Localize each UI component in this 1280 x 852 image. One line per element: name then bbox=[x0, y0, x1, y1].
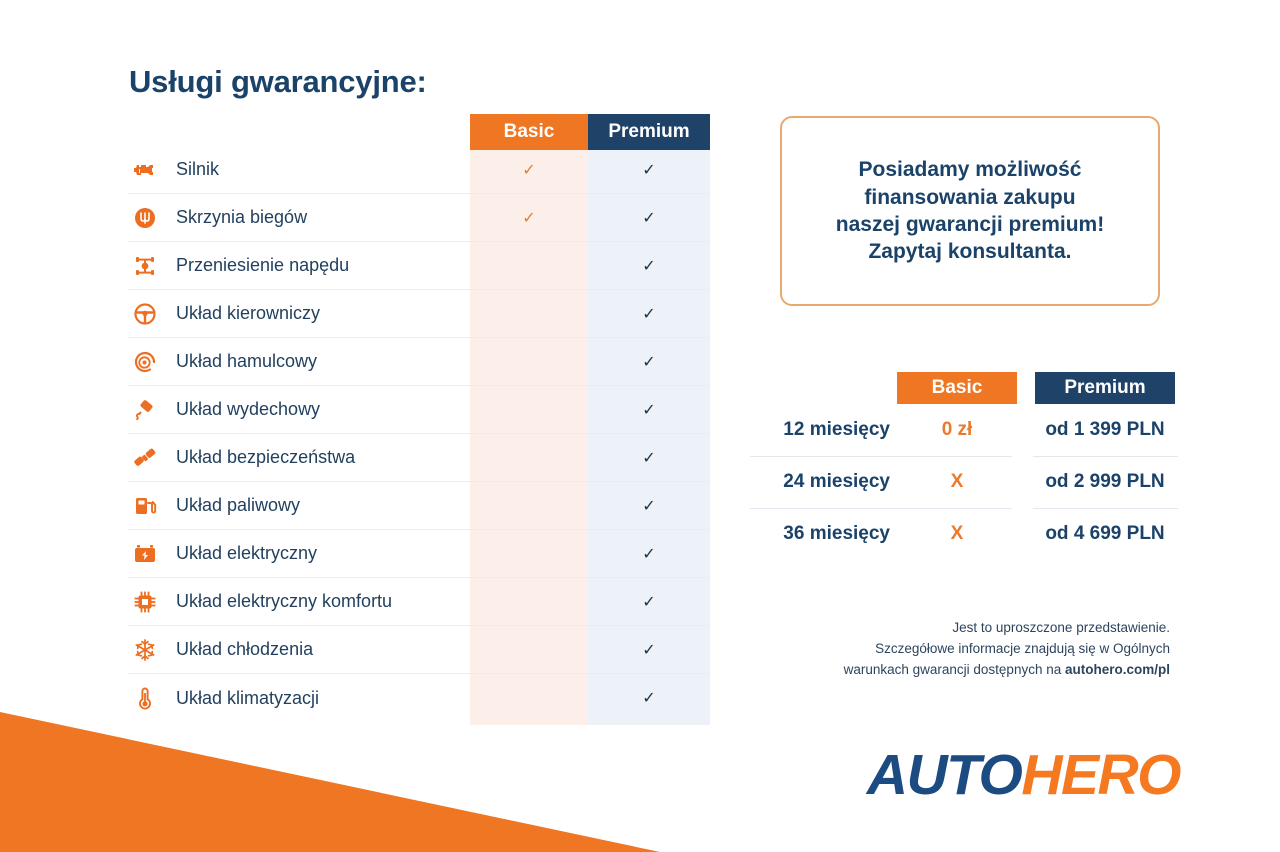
fuel-pump-icon bbox=[128, 494, 162, 518]
exhaust-icon bbox=[128, 398, 162, 422]
table-row: Układ wydechowy ✓ bbox=[128, 386, 710, 434]
price-table-header: Basic Premium bbox=[750, 372, 1180, 404]
financing-promo-text: Posiadamy możliwość finansowania zakupu … bbox=[836, 156, 1104, 265]
price-table: Basic Premium 12 miesięcy 0 zł od 1 399 … bbox=[750, 372, 1180, 560]
cell-premium: ✓ bbox=[588, 146, 710, 194]
table-row: Układ elektryczny ✓ bbox=[128, 530, 710, 578]
thermometer-icon bbox=[128, 686, 162, 710]
price-term: 12 miesięcy bbox=[750, 404, 890, 456]
feature-label: Układ elektryczny bbox=[162, 543, 317, 564]
cell-premium: ✓ bbox=[588, 386, 710, 434]
cell-premium: ✓ bbox=[588, 482, 710, 530]
cell-basic bbox=[470, 242, 588, 290]
feature-rows: Silnik ✓ ✓ Skrzynia biegów ✓ ✓ Przeniesi… bbox=[128, 146, 710, 722]
page-title: Usługi gwarancyjne: bbox=[129, 64, 427, 100]
cell-basic: ✓ bbox=[470, 194, 588, 242]
logo-hero-text: HERO bbox=[1021, 743, 1180, 807]
table-row: Silnik ✓ ✓ bbox=[128, 146, 710, 194]
feature-label: Przeniesienie napędu bbox=[162, 255, 349, 276]
autohero-link[interactable]: autohero.com/pl bbox=[1065, 662, 1170, 677]
financing-panel: Posiadamy możliwość finansowania zakupu … bbox=[740, 0, 1280, 852]
cell-premium: ✓ bbox=[588, 530, 710, 578]
table-row: Układ hamulcowy ✓ bbox=[128, 338, 710, 386]
cell-premium: ✓ bbox=[588, 194, 710, 242]
price-premium: od 1 399 PLN bbox=[1035, 404, 1175, 456]
feature-label: Układ elektryczny komfortu bbox=[162, 591, 392, 612]
feature-label: Układ bezpieczeństwa bbox=[162, 447, 355, 468]
cell-basic bbox=[470, 386, 588, 434]
engine-icon bbox=[128, 158, 162, 182]
price-premium: od 2 999 PLN bbox=[1035, 456, 1175, 508]
feature-label: Układ chłodzenia bbox=[162, 639, 313, 660]
cell-basic bbox=[470, 482, 588, 530]
disclaimer-text: Jest to uproszczone przedstawienie. Szcz… bbox=[760, 618, 1170, 681]
cell-basic bbox=[470, 338, 588, 386]
price-basic: X bbox=[897, 508, 1017, 560]
price-basic: 0 zł bbox=[897, 404, 1017, 456]
table-row: Układ bezpieczeństwa ✓ bbox=[128, 434, 710, 482]
cell-premium: ✓ bbox=[588, 434, 710, 482]
price-term: 24 miesięcy bbox=[750, 456, 890, 508]
table-row: Układ elektryczny komfortu ✓ bbox=[128, 578, 710, 626]
feature-label: Skrzynia biegów bbox=[162, 207, 307, 228]
feature-label: Układ paliwowy bbox=[162, 495, 300, 516]
gearbox-icon bbox=[128, 206, 162, 230]
price-premium: od 4 699 PLN bbox=[1035, 508, 1175, 560]
warranty-services-panel: Usługi gwarancyjne: Basic Premium Silnik… bbox=[0, 0, 740, 852]
column-header-basic: Basic bbox=[470, 114, 588, 150]
feature-label: Układ klimatyzacji bbox=[162, 688, 319, 709]
price-row: 36 miesięcy X od 4 699 PLN bbox=[750, 508, 1180, 560]
cell-premium: ✓ bbox=[588, 338, 710, 386]
table-row: Układ klimatyzacji ✓ bbox=[128, 674, 710, 722]
disclaimer-line-3: warunkach gwarancji dostępnych na autohe… bbox=[760, 660, 1170, 681]
cell-premium: ✓ bbox=[588, 242, 710, 290]
cell-premium: ✓ bbox=[588, 674, 710, 722]
snowflake-icon bbox=[128, 638, 162, 662]
table-row: Układ kierowniczy ✓ bbox=[128, 290, 710, 338]
feature-label: Silnik bbox=[162, 159, 219, 180]
column-header-premium: Premium bbox=[588, 114, 710, 150]
cell-basic: ✓ bbox=[470, 146, 588, 194]
disclaimer-line-1: Jest to uproszczone przedstawienie. bbox=[760, 618, 1170, 639]
cell-basic bbox=[470, 530, 588, 578]
financing-promo-box: Posiadamy możliwość finansowania zakupu … bbox=[780, 116, 1160, 306]
autohero-logo: AUTOHERO bbox=[760, 742, 1180, 808]
battery-icon bbox=[128, 542, 162, 566]
steering-wheel-icon bbox=[128, 302, 162, 326]
disclaimer-line-3-text: warunkach gwarancji dostępnych na bbox=[844, 662, 1065, 677]
cell-basic bbox=[470, 626, 588, 674]
price-header-premium: Premium bbox=[1035, 372, 1175, 404]
table-row: Układ paliwowy ✓ bbox=[128, 482, 710, 530]
cell-premium: ✓ bbox=[588, 626, 710, 674]
drivetrain-icon bbox=[128, 254, 162, 278]
price-row: 24 miesięcy X od 2 999 PLN bbox=[750, 456, 1180, 508]
table-row: Przeniesienie napędu ✓ bbox=[128, 242, 710, 290]
logo-auto-text: AUTO bbox=[867, 743, 1021, 807]
price-header-basic: Basic bbox=[897, 372, 1017, 404]
price-term: 36 miesięcy bbox=[750, 508, 890, 560]
feature-label: Układ kierowniczy bbox=[162, 303, 320, 324]
chip-icon bbox=[128, 590, 162, 614]
cell-premium: ✓ bbox=[588, 290, 710, 338]
feature-label: Układ hamulcowy bbox=[162, 351, 317, 372]
disclaimer-line-2: Szczegółowe informacje znajdują się w Og… bbox=[760, 639, 1170, 660]
cell-premium: ✓ bbox=[588, 578, 710, 626]
cell-basic bbox=[470, 578, 588, 626]
table-row: Układ chłodzenia ✓ bbox=[128, 626, 710, 674]
cell-basic bbox=[470, 290, 588, 338]
seatbelt-icon bbox=[128, 446, 162, 470]
table-row: Skrzynia biegów ✓ ✓ bbox=[128, 194, 710, 242]
price-basic: X bbox=[897, 456, 1017, 508]
feature-label: Układ wydechowy bbox=[162, 399, 320, 420]
cell-basic bbox=[470, 674, 588, 722]
brake-disc-icon bbox=[128, 350, 162, 374]
cell-basic bbox=[470, 434, 588, 482]
price-row: 12 miesięcy 0 zł od 1 399 PLN bbox=[750, 404, 1180, 456]
